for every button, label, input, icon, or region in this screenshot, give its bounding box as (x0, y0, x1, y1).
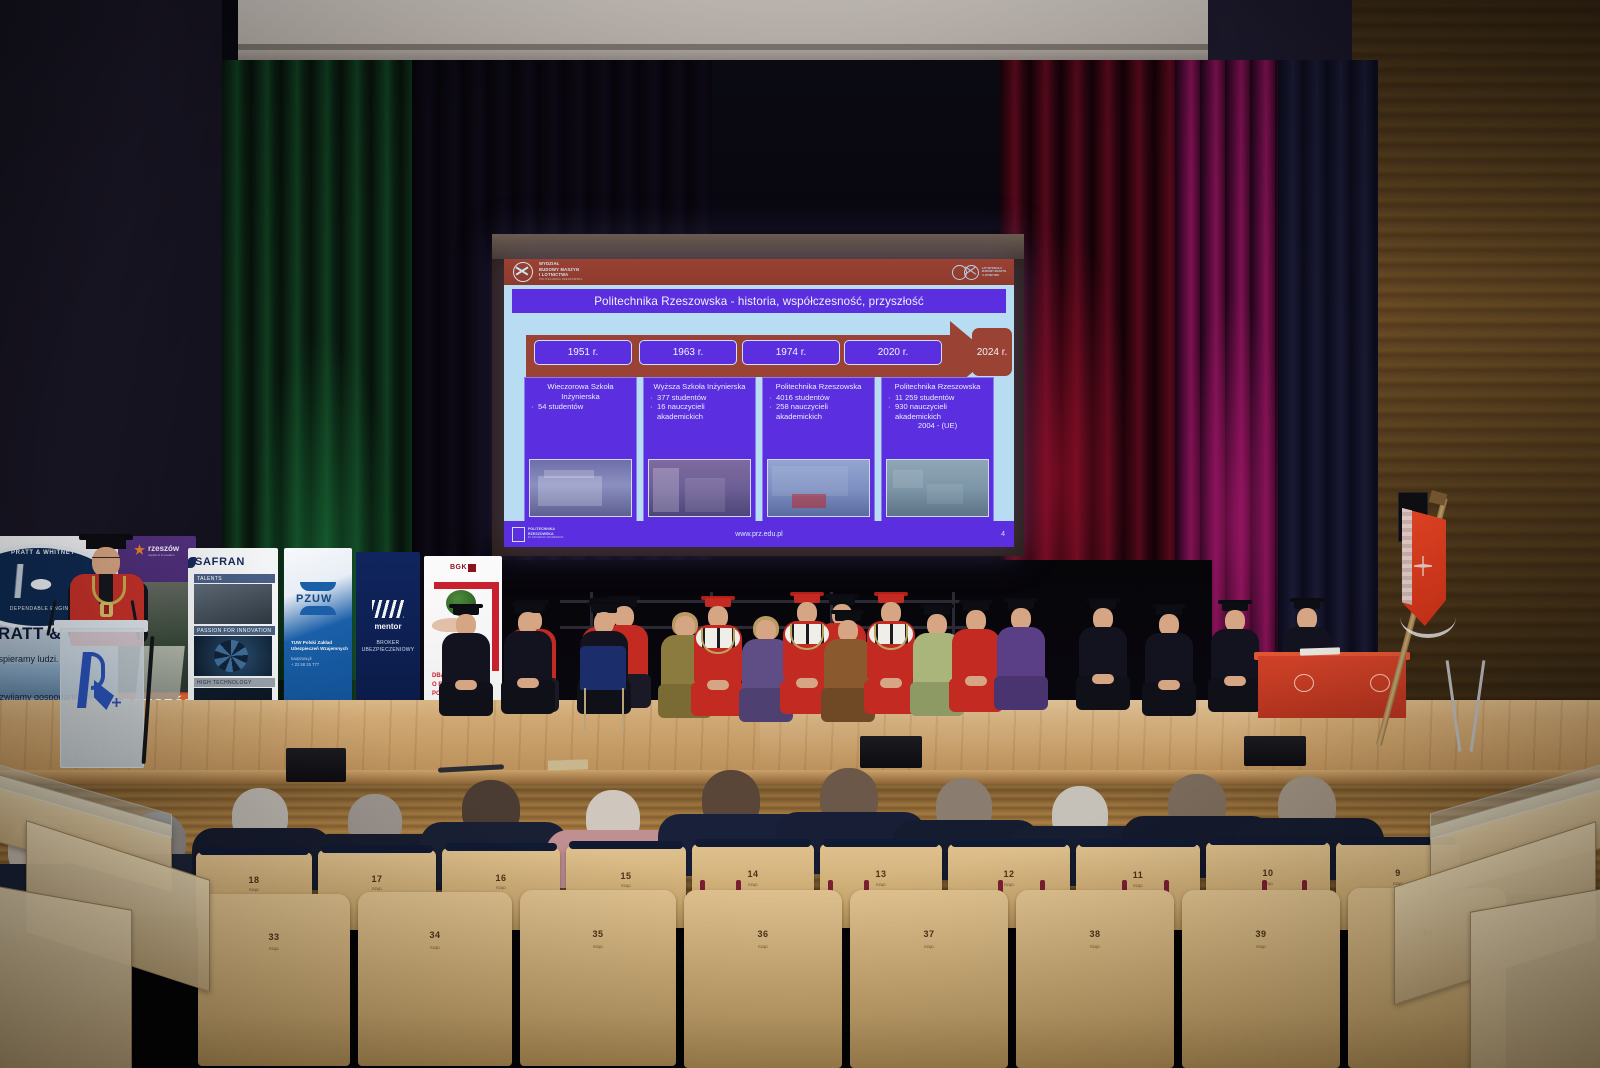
auditorium-photo: WYDZIAŁ BUDOWY MASZYN I LOTNICTWA POLITE… (0, 0, 1600, 1068)
stage-monitor-2 (860, 736, 922, 768)
seat-number: 35 (520, 929, 676, 939)
stage-floor-plate (548, 759, 588, 770)
ceiling-soffit-panel (238, 0, 1298, 65)
table-emblem-icon-1 (1294, 674, 1314, 692)
dignitary-9 (996, 600, 1046, 720)
seat-number: 34 (358, 930, 512, 940)
seat-row-label: RZĄD (1016, 945, 1174, 949)
pzuw-contact-block: tuwpzuw.pl + 22 58 25 777 (291, 656, 319, 667)
timeline-year-1963: 1963 r. (639, 340, 737, 365)
seat-row-label: RZĄD (358, 946, 512, 950)
faculty-sub: POLITECHNIKA RZESZOWSKA (539, 277, 583, 282)
hands (1092, 674, 1114, 684)
presentation-slide: WYDZIAŁ BUDOWY MASZYN I LOTNICTWA POLITE… (504, 259, 1014, 547)
column-2-bullet-2: 16 nauczycieli akademickich (657, 402, 751, 421)
column-4-bullet-2: 930 nauczycieli akademickich (895, 402, 989, 421)
seat-cushion (1209, 837, 1327, 845)
rector-1 (690, 598, 746, 732)
seat-row-label: RZĄD (318, 887, 436, 891)
seat-number: 36 (684, 929, 842, 939)
seat-number: 38 (1016, 929, 1174, 939)
mentor-brand-text: mentor (356, 622, 420, 631)
seat-number: 11 (1076, 870, 1200, 880)
dignitary-1 (440, 606, 492, 722)
timeline-year-2020: 2020 r. (844, 340, 942, 365)
anniversary-text-3: I LOTNICTWA (982, 274, 1006, 277)
seat-38[interactable]: 38 RZĄD (1016, 890, 1174, 1068)
seat-cushion (445, 843, 557, 851)
timeline-column-4: Politechnika Rzeszowska 11 259 studentów… (881, 377, 994, 522)
hands (517, 678, 539, 688)
pzuw-smile-bottom-icon (300, 606, 336, 615)
bgk-square-icon (468, 564, 476, 572)
seat-number: 33 (198, 932, 350, 942)
seat-number: 17 (318, 874, 436, 884)
timeline-column-3: Politechnika Rzeszowska 4016 studentów 2… (762, 377, 875, 522)
glasses-icon (92, 557, 120, 564)
chair-leg (584, 688, 586, 730)
pzuw-contact-line-2: + 22 58 25 777 (291, 662, 319, 668)
anniversary-text-block: LAT WYDZIAŁU BUDOWY MASZYN I LOTNICTWA (982, 267, 1006, 277)
mentor-sub-line-1: BROKER (356, 640, 420, 647)
seat-37[interactable]: 37 RZĄD (850, 890, 1008, 1068)
slide-title: Politechnika Rzeszowska - historia, wspó… (512, 289, 1006, 313)
mentor-sub-line-2: UBEZPIECZENIOWY (356, 647, 420, 654)
column-4-extra: 2004 - (UE) (886, 421, 989, 431)
safran-tag-talents: TALENTS (194, 574, 275, 583)
stage-front-edge (0, 770, 1600, 784)
prz-logo-icon (78, 650, 124, 720)
pzuw-smile-top-icon (300, 582, 336, 591)
timeline-column-2: Wyższa Szkoła Inżynierska 377 studentów … (643, 377, 756, 522)
bgk-brand-text: BGK (450, 564, 467, 571)
dignitary-11 (1144, 606, 1194, 724)
seat-cushion (321, 845, 433, 853)
seat-cushion (569, 841, 683, 849)
seat-34[interactable]: 34 RZĄD (358, 892, 512, 1066)
timeline-year-1974: 1974 r. (742, 340, 840, 365)
seat-cushion (1079, 839, 1197, 847)
column-3-heading: Politechnika Rzeszowska (767, 382, 870, 392)
seat-cushion (951, 839, 1067, 847)
logo-stroke-1 (77, 652, 92, 708)
speaker-medal-icon (100, 602, 113, 617)
faculty-name-block: WYDZIAŁ BUDOWY MASZYN I LOTNICTWA POLITE… (539, 261, 583, 283)
column-4-heading: Politechnika Rzeszowska (886, 382, 989, 392)
faculty-logo-icon (513, 262, 533, 282)
seat-number: 12 (948, 869, 1070, 879)
rzeszow-logo-text: rzeszów (148, 544, 179, 553)
safran-brand-text: SAFRAN (195, 556, 245, 568)
dignitary-10 (1078, 600, 1128, 722)
timeline-column-1: Wieczorowa Szkoła Inżynierska 54 student… (524, 377, 637, 522)
table-emblem-icon-2 (1370, 674, 1390, 692)
seat-number: 14 (692, 869, 814, 879)
ceremony-table-cover (1258, 656, 1406, 718)
column-2-heading: Wyższa Szkoła Inżynierska (648, 382, 751, 392)
seat-35[interactable]: 35 RZĄD (520, 890, 676, 1066)
seat-row-label: RZĄD (692, 883, 814, 887)
column-3-bullet-2: 258 nauczycieli akademickich (776, 402, 870, 421)
hands (965, 676, 987, 686)
hands (455, 680, 477, 690)
rzeszow-logo-sub: capital of innovation (148, 553, 175, 557)
column-2-bullet-1: 377 studentów (657, 393, 751, 403)
slide-header: WYDZIAŁ BUDOWY MASZYN I LOTNICTWA POLITE… (504, 259, 1014, 285)
right-wood-panel-shading (1352, 0, 1600, 760)
mentor-sub-block: BROKER UBEZPIECZENIOWY (356, 640, 420, 654)
safran-tag-hightech: HIGH TECHNOLOGY (194, 678, 275, 687)
hands (707, 680, 729, 690)
seat-row-label: RZĄD (1076, 884, 1200, 888)
anniversary-logo: LAT WYDZIAŁU BUDOWY MASZYN I LOTNICTWA (952, 265, 1014, 280)
safran-turbine-fan-icon (214, 640, 248, 672)
projection-screen-roller (492, 234, 1024, 259)
column-1-bullets: 54 studentów (529, 402, 632, 412)
audience-area: 18 RZĄD 17 RZĄD 16 RZĄD 15 RZĄD 14 RZĄD … (0, 784, 1600, 1068)
standard-trim (1400, 596, 1456, 638)
column-4-bullet-1: 11 259 studentów (895, 393, 989, 403)
seat-row-label: RZĄD (684, 945, 842, 949)
aerial-campus-photo-2020 (886, 459, 989, 517)
column-1-bullet-1: 54 studentów (538, 402, 632, 412)
column-2-bullets: 377 studentów 16 nauczycieli akademickic… (648, 393, 751, 422)
timeline-year-1951: 1951 r. (534, 340, 632, 365)
pzuw-name-line-2: Ubezpieczeń Wzajemnych (291, 646, 348, 652)
seat-row-label: RZĄD (566, 884, 686, 888)
seat-number: 10 (1206, 868, 1330, 878)
seat-row-label: RZĄD (198, 947, 350, 951)
slide-footer: POLITECHNIKA RZESZOWSKA IM. IGNACEGO ŁUK… (504, 521, 1014, 547)
chair-leg (622, 688, 624, 730)
safran-photo-talents (194, 584, 272, 624)
pzuw-brand-text: PZUW (296, 593, 332, 605)
seat-row-label: RZĄD (1182, 945, 1340, 949)
seat-row-label: RZĄD (520, 945, 676, 949)
historic-building-photo-1963 (648, 459, 751, 517)
seat-row-label: RZĄD (850, 945, 1008, 949)
seat-number: 18 (196, 875, 312, 885)
hands (1224, 676, 1246, 686)
seat-cushion (823, 839, 939, 847)
seat-row-label: RZĄD (820, 883, 942, 887)
seat-number: 15 (566, 871, 686, 881)
hands (796, 678, 818, 688)
seat-number: 39 (1182, 929, 1340, 939)
timeline-year-2024: 2024 r. (972, 328, 1012, 376)
stage-monitor-1 (286, 748, 346, 782)
stage-monitor-3 (1244, 736, 1306, 766)
seat-39[interactable]: 39 RZĄD (1182, 890, 1340, 1068)
column-1-heading: Wieczorowa Szkoła Inżynierska (529, 382, 632, 401)
campus-building-photo-1974 (767, 459, 870, 517)
seat-number: 37 (850, 929, 1008, 939)
hands (880, 678, 902, 688)
pw-line-1: Wspieramy ludzi. (0, 654, 59, 664)
dignitary-2 (502, 604, 554, 722)
hands (1158, 680, 1180, 690)
slide-footer-url: www.prz.edu.pl (504, 531, 1014, 538)
column-4-bullets: 11 259 studentów 930 nauczycieli akademi… (886, 393, 989, 422)
lap (994, 676, 1048, 710)
seat-number: 16 (442, 873, 560, 883)
seat-row-label: RZĄD (196, 888, 312, 892)
table-documents (1300, 647, 1340, 655)
seat-row-label: RZĄD (948, 883, 1070, 887)
seat-number: 13 (820, 869, 942, 879)
seat-row-label: RZĄD (1206, 882, 1330, 886)
safran-tag-passion: PASSION FOR INNOVATION (194, 626, 275, 635)
seat-cushion (695, 839, 811, 847)
anniversary-ring2-icon (964, 265, 979, 280)
column-3-bullet-1: 4016 studentów (776, 393, 870, 403)
empty-chair[interactable] (580, 646, 626, 690)
column-3-bullets: 4016 studentów 258 nauczycieli akademick… (767, 393, 870, 422)
logo-cross-icon (112, 698, 121, 707)
dignitary-12 (1210, 602, 1260, 722)
logo-stroke-3 (94, 680, 114, 710)
mentor-mark-icon (372, 600, 404, 618)
seat-33[interactable]: 33 RZĄD (198, 894, 350, 1066)
timeline-columns: Wieczorowa Szkoła Inżynierska 54 student… (524, 377, 994, 522)
pzuw-name-block: TUW Polski Zakład Ubezpieczeń Wzajemnych (291, 640, 348, 652)
historic-building-photo-1951 (529, 459, 632, 517)
seat-36[interactable]: 36 RZĄD (684, 890, 842, 1068)
seat-cushion (199, 847, 309, 855)
